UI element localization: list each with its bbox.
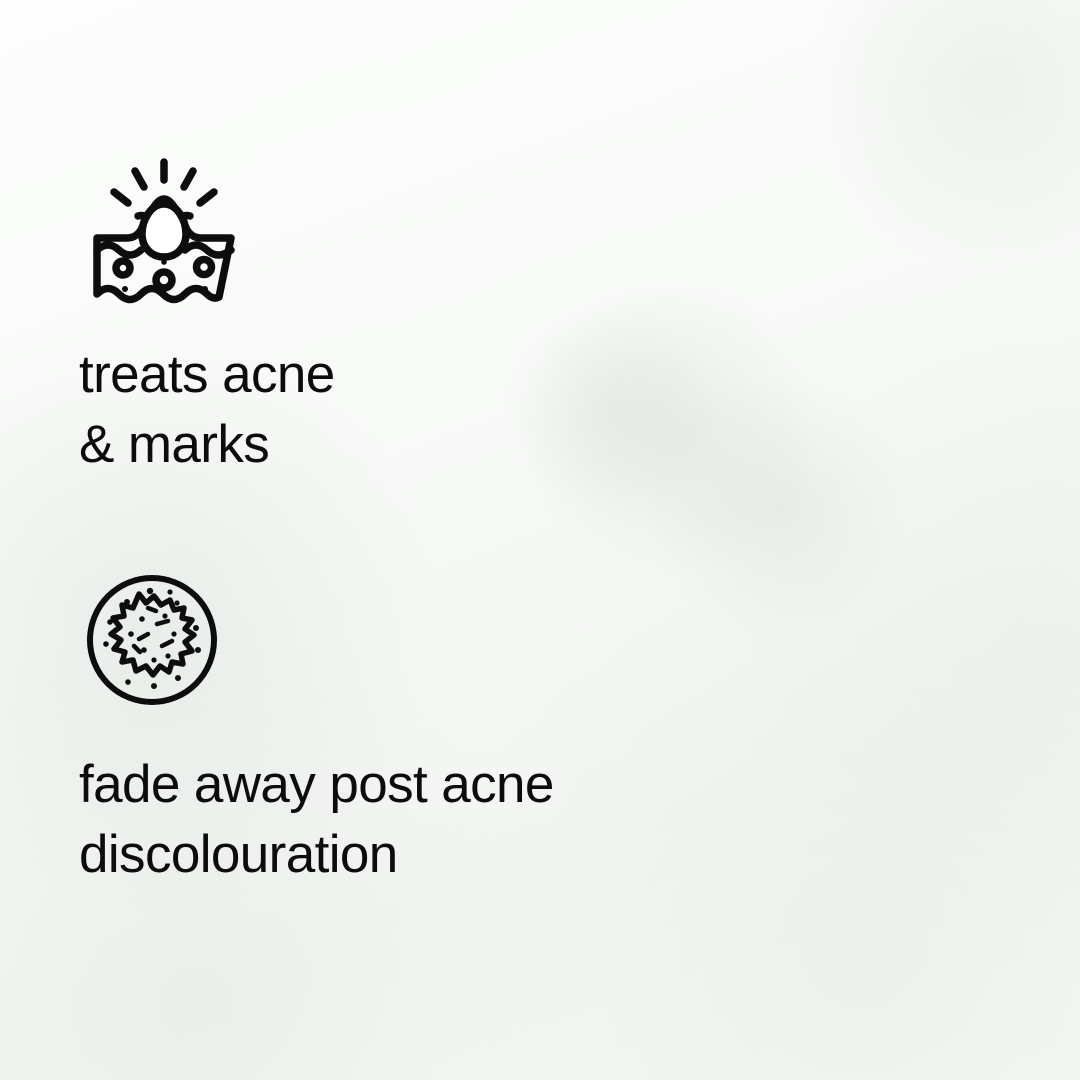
feature-label-acne-line-1: treats acne [79, 340, 335, 410]
pore-center-large [156, 272, 172, 288]
pore-left-large [116, 261, 130, 275]
burst-line-right-inner [184, 171, 193, 187]
feature-label-acne: treats acne & marks [79, 340, 335, 480]
promo-graphic: treats acne & marks [0, 0, 1080, 1080]
discolouration-patch-icon [84, 572, 220, 708]
pore-center-small [161, 259, 167, 265]
feature-list: treats acne & marks [0, 0, 1080, 1080]
pigmentation-blob [111, 594, 194, 675]
skin-cross-section-pimple-icon [88, 158, 240, 306]
feature-label-discolouration: fade away post acne discolouration [79, 750, 554, 890]
pore-right-large [197, 260, 212, 275]
feature-label-discolouration-line-2: discolouration [79, 820, 554, 890]
feature-label-acne-line-2: & marks [79, 410, 335, 480]
pore-right-small [202, 286, 208, 292]
skin-surface-wave-left [97, 245, 141, 255]
pustule-shape [142, 204, 186, 257]
pore-left-small [122, 286, 128, 292]
burst-line-right-outer [200, 192, 214, 203]
skin-surface-wave-right [185, 245, 231, 255]
burst-line-left-inner [135, 171, 144, 187]
burst-line-left-outer [114, 192, 128, 203]
feature-label-discolouration-line-1: fade away post acne [79, 750, 554, 820]
